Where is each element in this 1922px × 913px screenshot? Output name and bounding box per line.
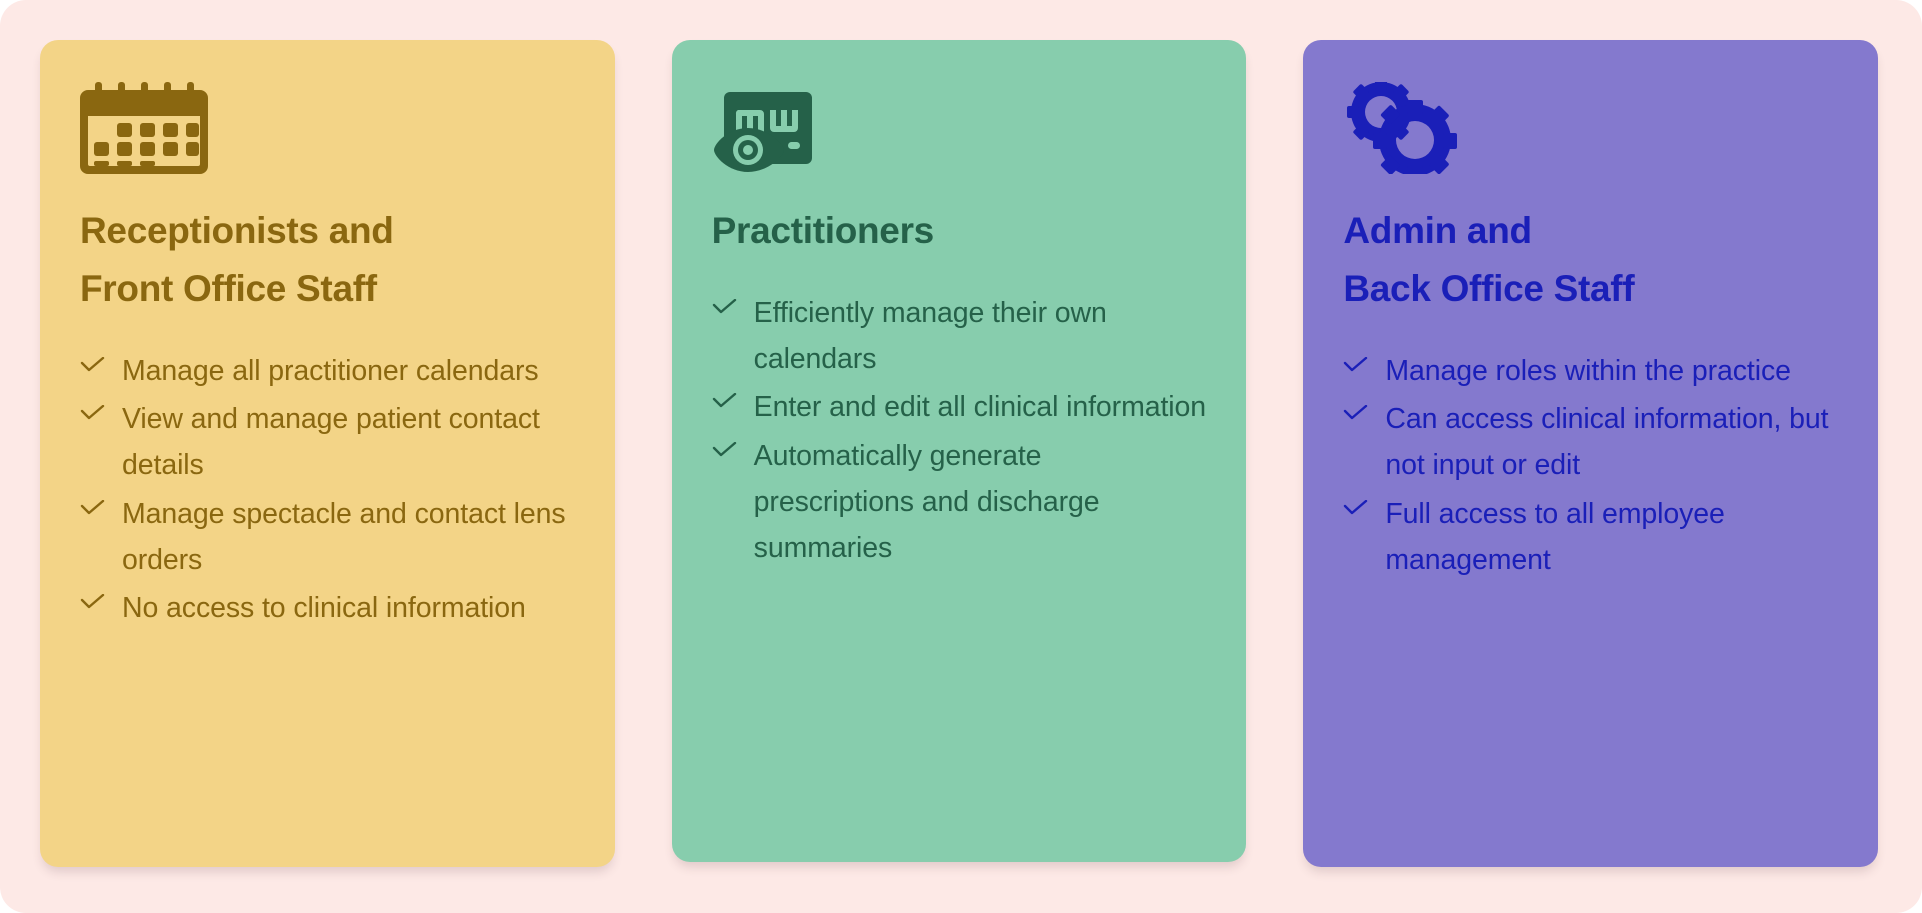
list-item: Can access clinical information, but not… bbox=[1343, 396, 1838, 488]
check-icon bbox=[1343, 500, 1368, 516]
check-icon bbox=[712, 442, 737, 458]
feature-text: Full access to all employee management bbox=[1385, 491, 1838, 583]
feature-list: Manage all practitioner calendars View a… bbox=[80, 348, 575, 631]
mw-eye-icon bbox=[712, 82, 1207, 178]
list-item: Manage spectacle and contact lens orders bbox=[80, 491, 575, 583]
feature-text: Efficiently manage their own calendars bbox=[754, 290, 1207, 382]
check-icon bbox=[80, 357, 105, 373]
feature-text: Can access clinical information, but not… bbox=[1385, 396, 1838, 488]
feature-list: Manage roles within the practice Can acc… bbox=[1343, 348, 1838, 583]
list-item: Automatically generate prescriptions and… bbox=[712, 433, 1207, 571]
list-item: Full access to all employee management bbox=[1343, 491, 1838, 583]
check-icon bbox=[712, 393, 737, 409]
list-item: No access to clinical information bbox=[80, 585, 575, 631]
page-root: Receptionists and Front Office Staff Man… bbox=[0, 0, 1922, 913]
list-item: View and manage patient contact details bbox=[80, 396, 575, 488]
feature-text: Manage all practitioner calendars bbox=[122, 348, 539, 394]
feature-list: Efficiently manage their own calendars E… bbox=[712, 290, 1207, 571]
list-item: Enter and edit all clinical information bbox=[712, 384, 1207, 430]
feature-text: View and manage patient contact details bbox=[122, 396, 575, 488]
feature-text: Automatically generate prescriptions and… bbox=[754, 433, 1207, 571]
list-item: Efficiently manage their own calendars bbox=[712, 290, 1207, 382]
calendar-icon bbox=[80, 82, 575, 178]
role-card-receptionists[interactable]: Receptionists and Front Office Staff Man… bbox=[40, 40, 615, 867]
card-title: Practitioners bbox=[712, 202, 1207, 260]
check-icon bbox=[80, 594, 105, 610]
role-card-grid: Receptionists and Front Office Staff Man… bbox=[40, 40, 1878, 870]
card-title: Receptionists and Front Office Staff bbox=[80, 202, 575, 318]
feature-text: Enter and edit all clinical information bbox=[754, 384, 1206, 430]
feature-text: Manage roles within the practice bbox=[1385, 348, 1791, 394]
check-icon bbox=[1343, 405, 1368, 421]
list-item: Manage all practitioner calendars bbox=[80, 348, 575, 394]
list-item: Manage roles within the practice bbox=[1343, 348, 1838, 394]
gears-icon bbox=[1343, 82, 1838, 178]
role-card-practitioners[interactable]: Practitioners Efficiently manage their o… bbox=[672, 40, 1247, 862]
role-card-admin[interactable]: Admin and Back Office Staff Manage roles… bbox=[1303, 40, 1878, 867]
card-title: Admin and Back Office Staff bbox=[1343, 202, 1838, 318]
feature-text: Manage spectacle and contact lens orders bbox=[122, 491, 575, 583]
check-icon bbox=[80, 405, 105, 421]
check-icon bbox=[1343, 357, 1368, 373]
check-icon bbox=[80, 500, 105, 516]
check-icon bbox=[712, 299, 737, 315]
feature-text: No access to clinical information bbox=[122, 585, 526, 631]
